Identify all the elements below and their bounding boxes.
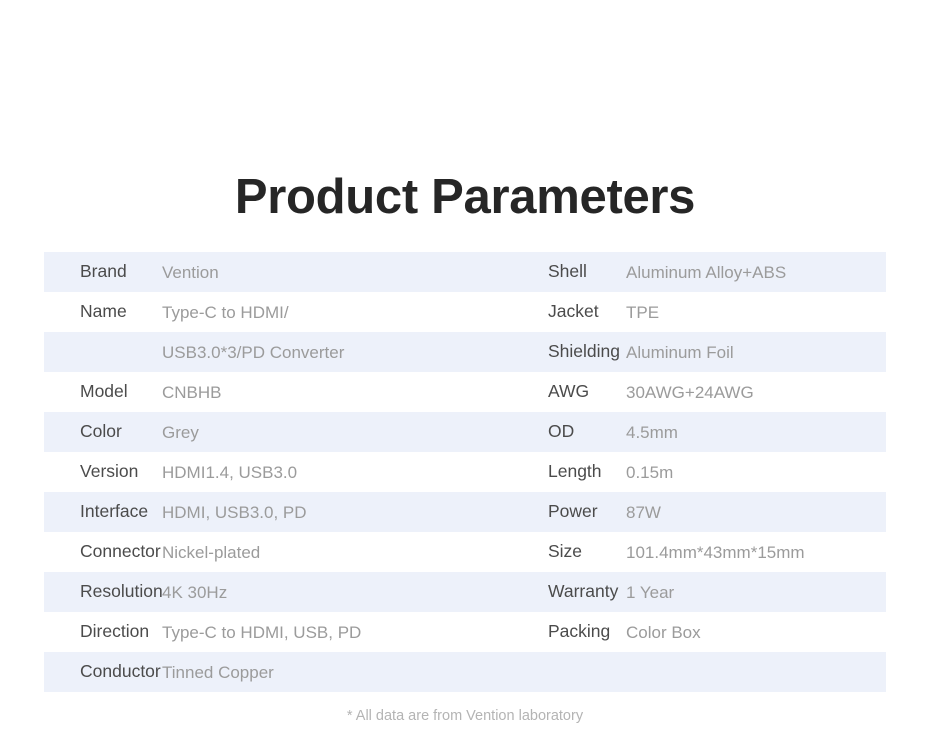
spec-label: Jacket — [518, 303, 626, 321]
spec-label: Shielding — [518, 343, 626, 361]
table-row: BrandVentionShellAluminum Alloy+ABS — [44, 252, 886, 292]
spec-value: 4K 30Hz — [162, 584, 518, 601]
spec-label: Size — [518, 543, 626, 561]
product-parameters-page: Product Parameters BrandVentionShellAlum… — [0, 0, 930, 750]
table-row: Resolution4K 30HzWarranty1 Year — [44, 572, 886, 612]
spec-table: BrandVentionShellAluminum Alloy+ABSNameT… — [44, 252, 886, 692]
table-row: ModelCNBHBAWG30AWG+24AWG — [44, 372, 886, 412]
spec-pair-left: ConnectorNickel-plated — [44, 532, 518, 572]
spec-pair-right: Length0.15m — [518, 452, 886, 492]
spec-pair-right: AWG30AWG+24AWG — [518, 372, 886, 412]
table-row: ConnectorNickel-platedSize101.4mm*43mm*1… — [44, 532, 886, 572]
table-row: NameType-C to HDMI/JacketTPE — [44, 292, 886, 332]
spec-label: AWG — [518, 383, 626, 401]
table-row: USB3.0*3/PD ConverterShieldingAluminum F… — [44, 332, 886, 372]
spec-value: HDMI, USB3.0, PD — [162, 504, 518, 521]
spec-value: Color Box — [626, 624, 886, 641]
spec-value: Type-C to HDMI, USB, PD — [162, 624, 518, 641]
spec-label: Power — [518, 503, 626, 521]
spec-value: 1 Year — [626, 584, 886, 601]
spec-value: 4.5mm — [626, 424, 886, 441]
spec-label: Version — [44, 463, 162, 481]
spec-label: Warranty — [518, 583, 626, 601]
spec-label: Packing — [518, 623, 626, 641]
spec-label: Resolution — [44, 583, 162, 601]
spec-value: Tinned Copper — [162, 664, 518, 681]
table-row: ConductorTinned Copper — [44, 652, 886, 692]
spec-label: Shell — [518, 263, 626, 281]
spec-label: Conductor — [44, 663, 162, 681]
spec-label: Length — [518, 463, 626, 481]
spec-value: Type-C to HDMI/ — [162, 304, 518, 321]
spec-pair-left: ConductorTinned Copper — [44, 652, 518, 692]
spec-pair-left: DirectionType-C to HDMI, USB, PD — [44, 612, 518, 652]
spec-pair-left: Resolution4K 30Hz — [44, 572, 518, 612]
spec-value: CNBHB — [162, 384, 518, 401]
spec-label: Direction — [44, 623, 162, 641]
spec-value: TPE — [626, 304, 886, 321]
spec-pair-right: JacketTPE — [518, 292, 886, 332]
spec-label: Brand — [44, 263, 162, 281]
spec-value: USB3.0*3/PD Converter — [162, 344, 518, 361]
spec-pair-right: PackingColor Box — [518, 612, 886, 652]
spec-label: Model — [44, 383, 162, 401]
spec-pair-right: OD4.5mm — [518, 412, 886, 452]
spec-pair-left: ModelCNBHB — [44, 372, 518, 412]
spec-value: Nickel-plated — [162, 544, 518, 561]
spec-pair-right: Power87W — [518, 492, 886, 532]
spec-pair-right: Warranty1 Year — [518, 572, 886, 612]
spec-pair-right: Size101.4mm*43mm*15mm — [518, 532, 886, 572]
spec-value: Vention — [162, 264, 518, 281]
spec-value: 30AWG+24AWG — [626, 384, 886, 401]
spec-value: 87W — [626, 504, 886, 521]
spec-pair-right: ShellAluminum Alloy+ABS — [518, 252, 886, 292]
spec-pair-right: ShieldingAluminum Foil — [518, 332, 886, 372]
spec-value: Aluminum Alloy+ABS — [626, 264, 886, 281]
table-row: DirectionType-C to HDMI, USB, PDPackingC… — [44, 612, 886, 652]
spec-label: Interface — [44, 503, 162, 521]
spec-pair-right — [518, 652, 886, 692]
spec-label: Name — [44, 303, 162, 321]
spec-label: OD — [518, 423, 626, 441]
spec-pair-left: VersionHDMI1.4, USB3.0 — [44, 452, 518, 492]
spec-value: Grey — [162, 424, 518, 441]
spec-pair-left: NameType-C to HDMI/ — [44, 292, 518, 332]
spec-value: HDMI1.4, USB3.0 — [162, 464, 518, 481]
table-footnote: * All data are from Vention laboratory — [0, 708, 930, 724]
table-row: InterfaceHDMI, USB3.0, PDPower87W — [44, 492, 886, 532]
spec-label: Color — [44, 423, 162, 441]
spec-value: Aluminum Foil — [626, 344, 886, 361]
table-row: ColorGreyOD4.5mm — [44, 412, 886, 452]
spec-pair-left: BrandVention — [44, 252, 518, 292]
spec-value: 101.4mm*43mm*15mm — [626, 544, 886, 561]
table-row: VersionHDMI1.4, USB3.0Length0.15m — [44, 452, 886, 492]
spec-label: Connector — [44, 543, 162, 561]
spec-pair-left: InterfaceHDMI, USB3.0, PD — [44, 492, 518, 532]
spec-pair-left: ColorGrey — [44, 412, 518, 452]
page-title: Product Parameters — [0, 171, 930, 225]
spec-value: 0.15m — [626, 464, 886, 481]
spec-pair-left: USB3.0*3/PD Converter — [44, 332, 518, 372]
